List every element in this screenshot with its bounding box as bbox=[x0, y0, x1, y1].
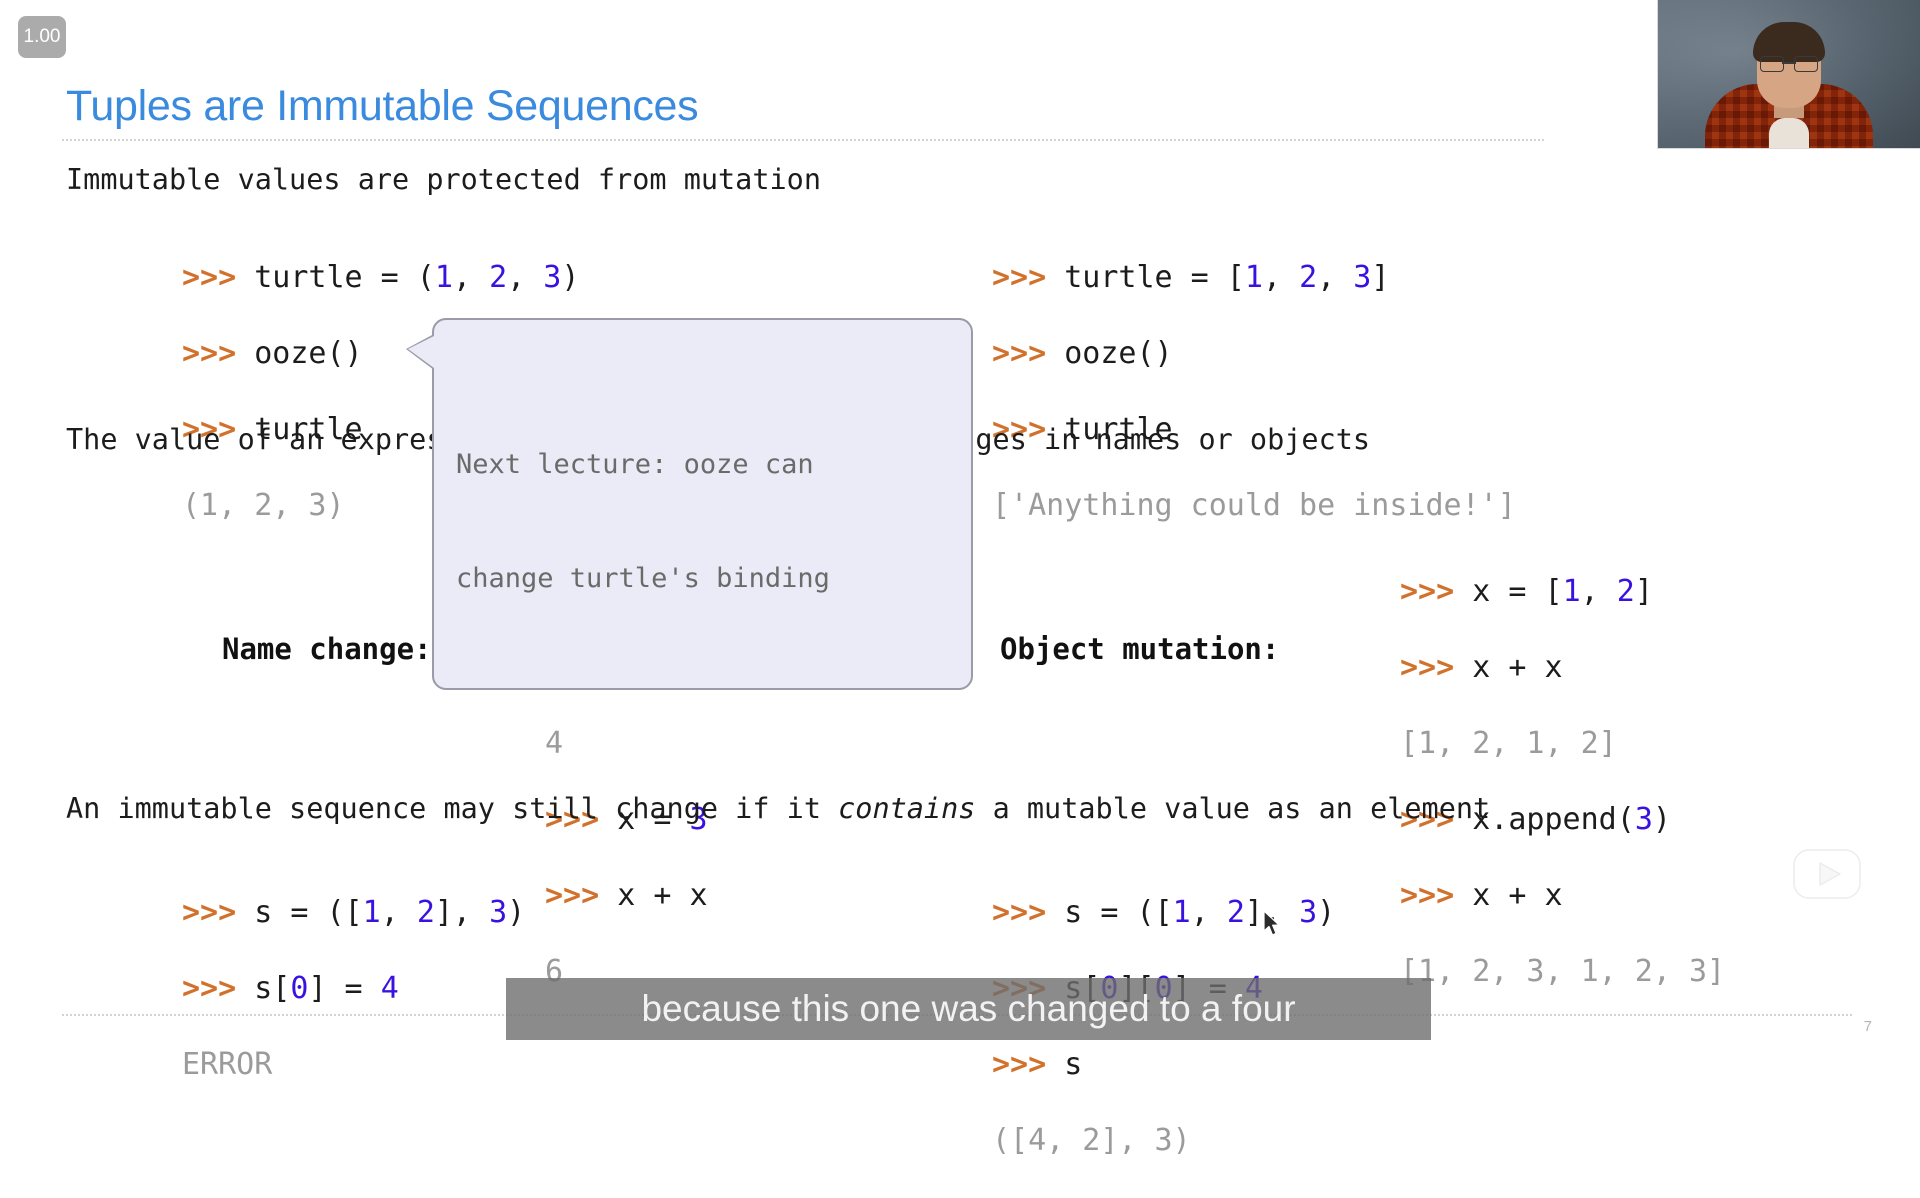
callout-line-2: change turtle's binding bbox=[456, 560, 951, 598]
prompt-icon: >>> bbox=[1400, 574, 1454, 609]
page-title: Tuples are Immutable Sequences bbox=[66, 82, 698, 131]
prompt-icon: >>> bbox=[992, 1047, 1046, 1082]
page-number: 7 bbox=[1864, 1018, 1872, 1035]
slide-canvas: Tuples are Immutable Sequences Immutable… bbox=[0, 0, 1920, 1080]
caption-text: because this one was changed to a four bbox=[641, 988, 1295, 1030]
body-line-3-part-a: An immutable sequence may still change i… bbox=[66, 792, 838, 825]
prompt-icon: >>> bbox=[545, 878, 599, 913]
prompt-icon: >>> bbox=[182, 895, 236, 930]
callout-line-1: Next lecture: ooze can bbox=[456, 446, 951, 484]
video-caption-bar: because this one was changed to a four bbox=[506, 978, 1431, 1040]
body-line-3-italic: contains bbox=[838, 792, 975, 825]
body-line-1: Immutable values are protected from muta… bbox=[66, 163, 821, 196]
code-output: [1, 2, 1, 2] bbox=[1400, 726, 1617, 761]
prompt-icon: >>> bbox=[992, 336, 1046, 371]
code-block-error: >>> s = ([1, 2], 3) >>> s[0] = 4 ERROR bbox=[182, 856, 525, 1122]
prompt-icon: >>> bbox=[182, 971, 236, 1006]
mouse-cursor-icon bbox=[1262, 910, 1282, 938]
title-divider bbox=[62, 139, 1544, 141]
body-line-3: An immutable sequence may still change i… bbox=[66, 792, 1490, 825]
code-block-list: >>> turtle = [1, 2, 3] >>> ooze() >>> tu… bbox=[992, 221, 1516, 563]
callout-tail-icon bbox=[408, 336, 434, 368]
code-block-object-mutation: >>> x = [1, 2] >>> x + x [1, 2, 1, 2] >>… bbox=[1400, 535, 1725, 1029]
label-name-change: Name change: bbox=[222, 632, 432, 666]
label-object-mutation: Object mutation: bbox=[1000, 632, 1279, 666]
code-output: [1, 2, 3, 1, 2, 3] bbox=[1400, 954, 1725, 989]
body-line-3-part-b: a mutable value as an element bbox=[975, 792, 1490, 825]
presenter-glasses-icon bbox=[1760, 56, 1818, 70]
playback-speed-badge[interactable]: 1.00 bbox=[18, 16, 66, 58]
presenter-collar bbox=[1769, 118, 1809, 148]
code-output: (1, 2, 3) bbox=[182, 488, 345, 523]
prompt-icon: >>> bbox=[182, 336, 236, 371]
prompt-icon: >>> bbox=[182, 260, 236, 295]
prompt-icon: >>> bbox=[992, 895, 1046, 930]
prompt-icon: >>> bbox=[992, 260, 1046, 295]
code-output: ['Anything could be inside!'] bbox=[992, 488, 1516, 523]
code-output: ([4, 2], 3) bbox=[992, 1123, 1191, 1158]
callout-bubble: Next lecture: ooze can change turtle's b… bbox=[432, 318, 973, 690]
code-output: 4 bbox=[545, 726, 563, 761]
tv-play-icon[interactable] bbox=[1786, 832, 1868, 904]
code-output-error: ERROR bbox=[182, 1047, 272, 1082]
prompt-icon: >>> bbox=[1400, 878, 1454, 913]
prompt-icon: >>> bbox=[1400, 650, 1454, 685]
presenter-webcam-video[interactable] bbox=[1658, 0, 1920, 148]
